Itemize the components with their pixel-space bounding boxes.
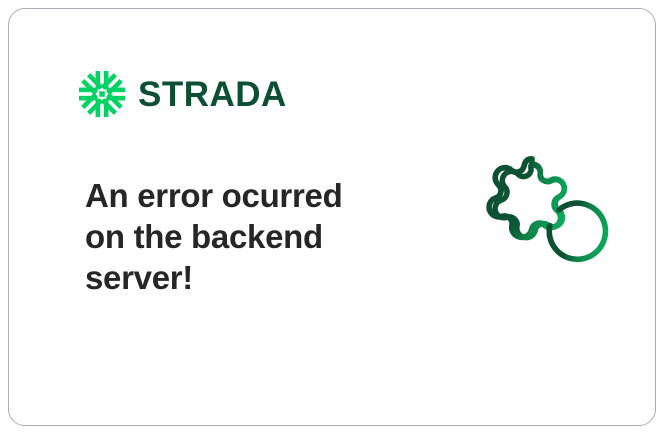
error-card: STRADA An error ocurred on the backend s… — [8, 8, 656, 426]
brand-lockup: STRADA — [79, 71, 287, 117]
gear-icon — [455, 155, 609, 307]
error-headline: An error ocurred on the backend server! — [85, 175, 385, 298]
error-screen: STRADA An error ocurred on the backend s… — [0, 0, 666, 436]
brand-wordmark: STRADA — [138, 77, 287, 112]
strada-asterisk-mark-icon — [79, 71, 125, 117]
